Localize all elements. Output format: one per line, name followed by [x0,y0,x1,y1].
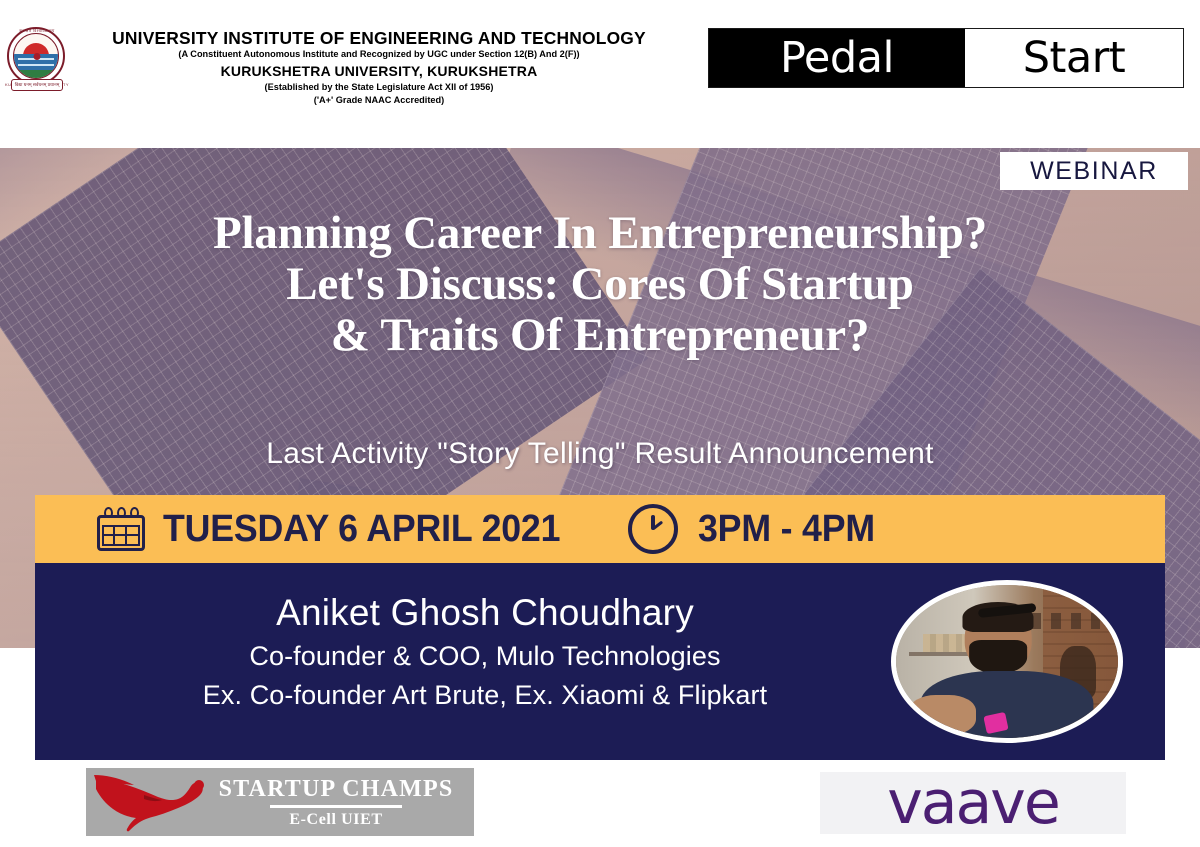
winged-runner-icon [92,771,210,833]
startup-champs-divider [270,805,402,808]
university-name: KURUKSHETRA UNIVERSITY, KURUKSHETRA [68,62,690,81]
institute-name: UNIVERSITY INSTITUTE OF ENGINEERING AND … [68,28,690,48]
university-naac-grade: ('A+' Grade NAAC Accredited) [68,94,690,107]
institute-accreditation-note: (A Constituent Autonomous Institute and … [68,48,690,62]
startup-champs-title: STARTUP CHAMPS [210,776,462,803]
event-time: 3PM - 4PM [698,508,875,551]
pedalstart-logo: Pedal Start [708,28,1184,88]
speaker-photo [891,580,1123,743]
poster-subtitle: Last Activity "Story Telling" Result Ann… [0,437,1200,471]
event-date: TUESDAY 6 APRIL 2021 [163,508,560,551]
speaker-role-line-1: Co-founder & COO, Mulo Technologies [75,637,895,676]
pedalstart-logo-start: Start [965,29,1183,87]
calendar-icon [97,507,145,551]
webinar-badge: WEBINAR [1000,152,1188,190]
vaave-wordmark: vaave [887,773,1058,833]
schedule-bar: TUESDAY 6 APRIL 2021 3PM - 4PM [35,495,1165,563]
poster-title: Planning Career In Entrepreneurship? Let… [0,208,1200,361]
speaker-role-line-2: Ex. Co-founder Art Brute, Ex. Xiaomi & F… [75,676,895,715]
seal-band-top-text: कुरुक्षेत्र विश्वविद्यालय [19,28,54,34]
vaave-logo: vaave [820,772,1126,834]
pedalstart-logo-pedal: Pedal [709,29,965,87]
title-line-2: Let's Discuss: Cores Of Startup [0,259,1200,310]
startup-champs-logo: STARTUP CHAMPS E-Cell UIET [86,768,474,836]
speaker-details: Aniket Ghosh Choudhary Co-founder & COO,… [75,589,895,715]
title-line-3: & Traits Of Entrepreneur? [0,310,1200,361]
webinar-poster: कुरुक्षेत्र विश्वविद्यालय KURUKSHETRA UN… [0,0,1200,847]
seal-scroll-text: विद्या धनम् सर्वधनम् प्रधानम् [11,79,63,91]
university-establishment-note: (Established by the State Legislature Ac… [68,81,690,94]
poster-header: कुरुक्षेत्र विश्वविद्यालय KURUKSHETRA UN… [0,0,1200,148]
clock-icon [628,504,678,554]
title-line-1: Planning Career In Entrepreneurship? [0,208,1200,259]
institute-branding: कुरुक्षेत्र विश्वविद्यालय KURUKSHETRA UN… [0,18,700,118]
webinar-badge-label: WEBINAR [1030,157,1158,186]
startup-champs-subtitle: E-Cell UIET [210,811,462,829]
poster-footer: STARTUP CHAMPS E-Cell UIET vaave [0,760,1200,847]
speaker-panel: Aniket Ghosh Choudhary Co-founder & COO,… [35,563,1165,760]
university-seal-icon: कुरुक्षेत्र विश्वविद्यालय KURUKSHETRA UN… [6,26,68,88]
speaker-name: Aniket Ghosh Choudhary [75,589,895,637]
